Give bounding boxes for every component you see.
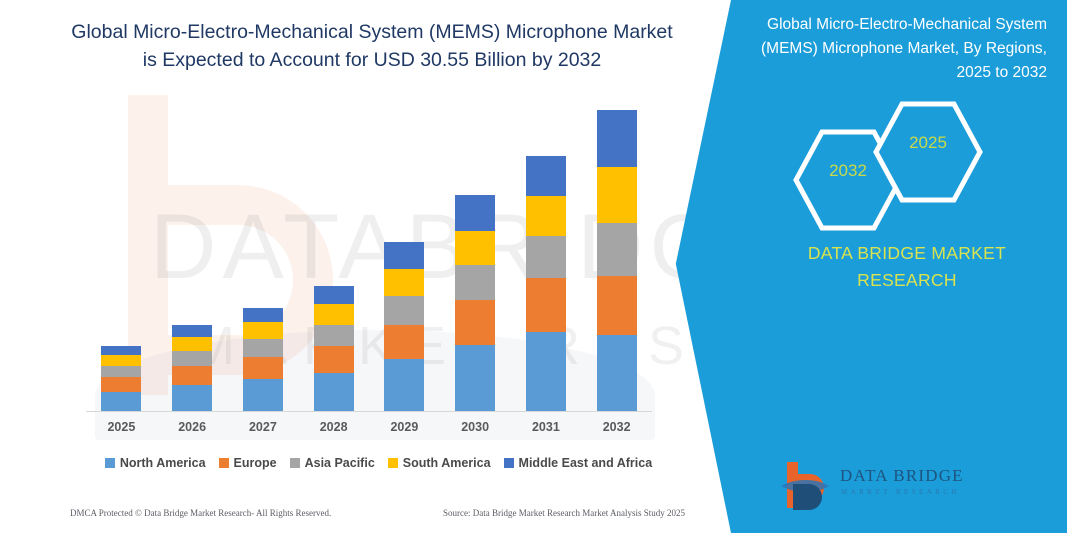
hexagon-group: 2032 2025 [792,100,1062,210]
legend-label: South America [403,456,491,470]
bar-segment [101,366,141,378]
stacked-bar-2029 [384,242,424,411]
bar-segment [314,286,354,304]
bar-segment [314,325,354,347]
bar-segment [526,278,566,331]
bar-segment [172,337,212,351]
hexagon-2025-label: 2025 [872,133,984,153]
x-axis-line [86,411,652,412]
bar-slot [581,110,652,411]
chart-title: Global Micro-Electro-Mechanical System (… [62,18,682,74]
legend-item[interactable]: South America [388,456,491,470]
x-axis-tick-2031: 2031 [511,420,582,434]
bar-segment [455,300,495,345]
bar-segment [597,167,637,223]
brand-line-2: RESEARCH [757,267,1057,294]
panel-title: Global Micro-Electro-Mechanical System (… [747,13,1057,85]
bar-segment [455,345,495,411]
x-axis-tick-2030: 2030 [440,420,511,434]
bar-segment [526,156,566,196]
stacked-bar-2026 [172,325,212,411]
bar-segment [597,276,637,335]
bar-segment [172,366,212,384]
x-axis-labels: 20252026202720282029203020312032 [86,420,652,434]
stacked-bar-2032 [597,110,637,411]
bar-segment [172,351,212,366]
stacked-bar-chart [86,110,652,411]
bar-segment [172,325,212,337]
legend-item[interactable]: North America [105,456,206,470]
bar-segment [384,269,424,296]
bar-segment [384,325,424,360]
stacked-bar-2030 [455,195,495,411]
stacked-bar-2031 [526,156,566,411]
bar-segment [243,339,283,357]
brand-name: DATA BRIDGE MARKET RESEARCH [757,240,1057,294]
infographic-canvas: DATABRIDGE MARKET RESEARCH Global Micro-… [0,0,1067,533]
bar-slot [298,110,369,411]
legend-swatch-icon [290,458,300,468]
bar-slot [511,110,582,411]
bar-slot [157,110,228,411]
bar-segment [384,242,424,269]
bar-segment [314,373,354,411]
legend-label: Middle East and Africa [519,456,653,470]
x-axis-tick-2026: 2026 [157,420,228,434]
logo-b-mark-icon [777,460,835,510]
bar-segment [597,110,637,166]
legend-swatch-icon [388,458,398,468]
bar-slot [86,110,157,411]
company-logo: DATA BRIDGE MARKET RESEARCH [777,460,1057,512]
x-axis-tick-2027: 2027 [228,420,299,434]
logo-title: DATA BRIDGE [840,466,964,486]
bar-segment [314,304,354,325]
stacked-bar-2025 [101,346,141,411]
bar-segment [243,379,283,411]
legend-label: Europe [234,456,277,470]
legend-swatch-icon [105,458,115,468]
bar-segment [243,322,283,339]
bar-segment [101,392,141,412]
footer-copyright: DMCA Protected © Data Bridge Market Rese… [70,508,331,518]
bar-segment [243,308,283,322]
bar-segment [101,355,141,366]
legend-swatch-icon [504,458,514,468]
bar-slot [440,110,511,411]
logo-subtitle: MARKET RESEARCH [841,488,960,496]
bar-segment [243,357,283,379]
bar-segment [455,231,495,265]
bar-segment [101,346,141,355]
chart-legend: North AmericaEuropeAsia PacificSouth Ame… [86,456,671,470]
bar-segment [597,335,637,411]
bar-segment [455,195,495,231]
bar-segment [526,332,566,411]
legend-item[interactable]: Europe [219,456,277,470]
footer: DMCA Protected © Data Bridge Market Rese… [70,508,685,518]
stacked-bar-2027 [243,308,283,411]
bar-segment [384,359,424,411]
bar-segment [172,385,212,411]
bar-segment [314,346,354,373]
x-axis-tick-2025: 2025 [86,420,157,434]
legend-label: North America [120,456,206,470]
bar-segment [384,296,424,324]
bar-slot [228,110,299,411]
bar-segment [455,265,495,301]
legend-label: Asia Pacific [305,456,375,470]
stacked-bar-2028 [314,286,354,411]
legend-swatch-icon [219,458,229,468]
bar-segment [101,377,141,391]
x-axis-tick-2032: 2032 [581,420,652,434]
bar-slot [369,110,440,411]
x-axis-tick-2028: 2028 [298,420,369,434]
right-panel: Global Micro-Electro-Mechanical System (… [667,0,1067,533]
legend-item[interactable]: Asia Pacific [290,456,375,470]
bar-segment [526,236,566,278]
x-axis-tick-2029: 2029 [369,420,440,434]
footer-source: Source: Data Bridge Market Research Mark… [443,508,685,518]
brand-line-1: DATA BRIDGE MARKET [757,240,1057,267]
bar-segment [597,223,637,276]
bar-segment [526,196,566,236]
legend-item[interactable]: Middle East and Africa [504,456,653,470]
